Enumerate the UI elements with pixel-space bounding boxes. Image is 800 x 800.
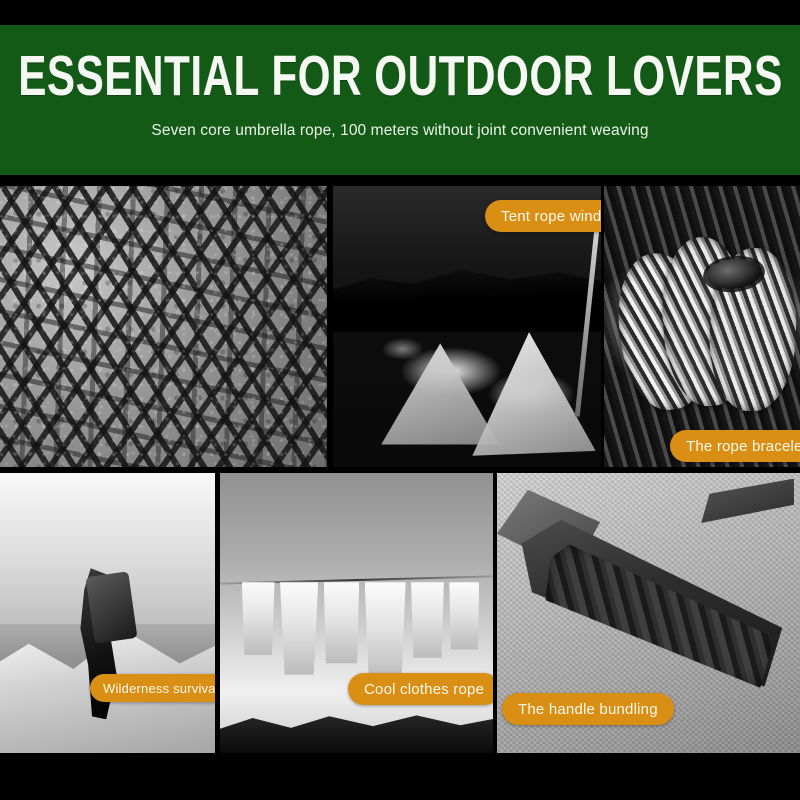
hanging-cloth-shape — [280, 582, 318, 674]
promotional-banner: ESSENTIAL FOR OUTDOOR LOVERS Seven core … — [0, 0, 800, 800]
wilderness-photo — [0, 473, 215, 753]
hanging-cloth-shape — [242, 582, 275, 655]
photo-panel-handle[interactable]: The handle bundling — [497, 473, 800, 753]
badge-tent-rope-wind: Tent rope wind — [485, 200, 601, 232]
bracelet-photo — [604, 186, 800, 467]
photo-panel-netting[interactable]: netting — [0, 186, 327, 467]
photo-panel-tent[interactable]: Tent rope wind — [333, 186, 601, 467]
hanging-cloth-shape — [449, 582, 479, 649]
hanging-cloth-shape — [411, 582, 444, 658]
page-title: ESSENTIAL FOR OUTDOOR LOVERS — [18, 45, 783, 106]
photo-grid: netting Tent rope wind The rope bracelet — [0, 186, 800, 753]
badge-handle-bundling: The handle bundling — [502, 693, 674, 725]
top-letterbox-bar — [0, 0, 800, 25]
header-divider — [0, 175, 800, 186]
header-banner: ESSENTIAL FOR OUTDOOR LOVERS Seven core … — [0, 25, 800, 175]
page-subtitle: Seven core umbrella rope, 100 meters wit… — [151, 121, 648, 141]
netting-texture-overlay — [0, 186, 327, 467]
badge-cool-clothes-rope: Cool clothes rope — [348, 673, 493, 705]
tree-line-shape — [220, 708, 493, 753]
badge-rope-bracelet: The rope bracelet — [670, 430, 800, 462]
hanging-cloth-shape — [365, 582, 406, 680]
hanging-cloth-shape — [324, 582, 359, 663]
clothesline-photo — [220, 473, 493, 753]
mountain-ridge-shape — [333, 259, 601, 332]
badge-wilderness-survival: Wilderness survival — [90, 674, 215, 702]
netting-photo — [0, 186, 327, 467]
photo-panel-bracelet[interactable]: The rope bracelet — [604, 186, 800, 467]
bottom-letterbox-bar — [0, 753, 800, 800]
secondary-tool-shape — [691, 479, 794, 529]
photo-panel-clothesline[interactable]: Cool clothes rope — [220, 473, 493, 753]
tent-left-shape — [381, 343, 499, 444]
photo-panel-wilderness[interactable]: Wilderness survival — [0, 473, 215, 753]
